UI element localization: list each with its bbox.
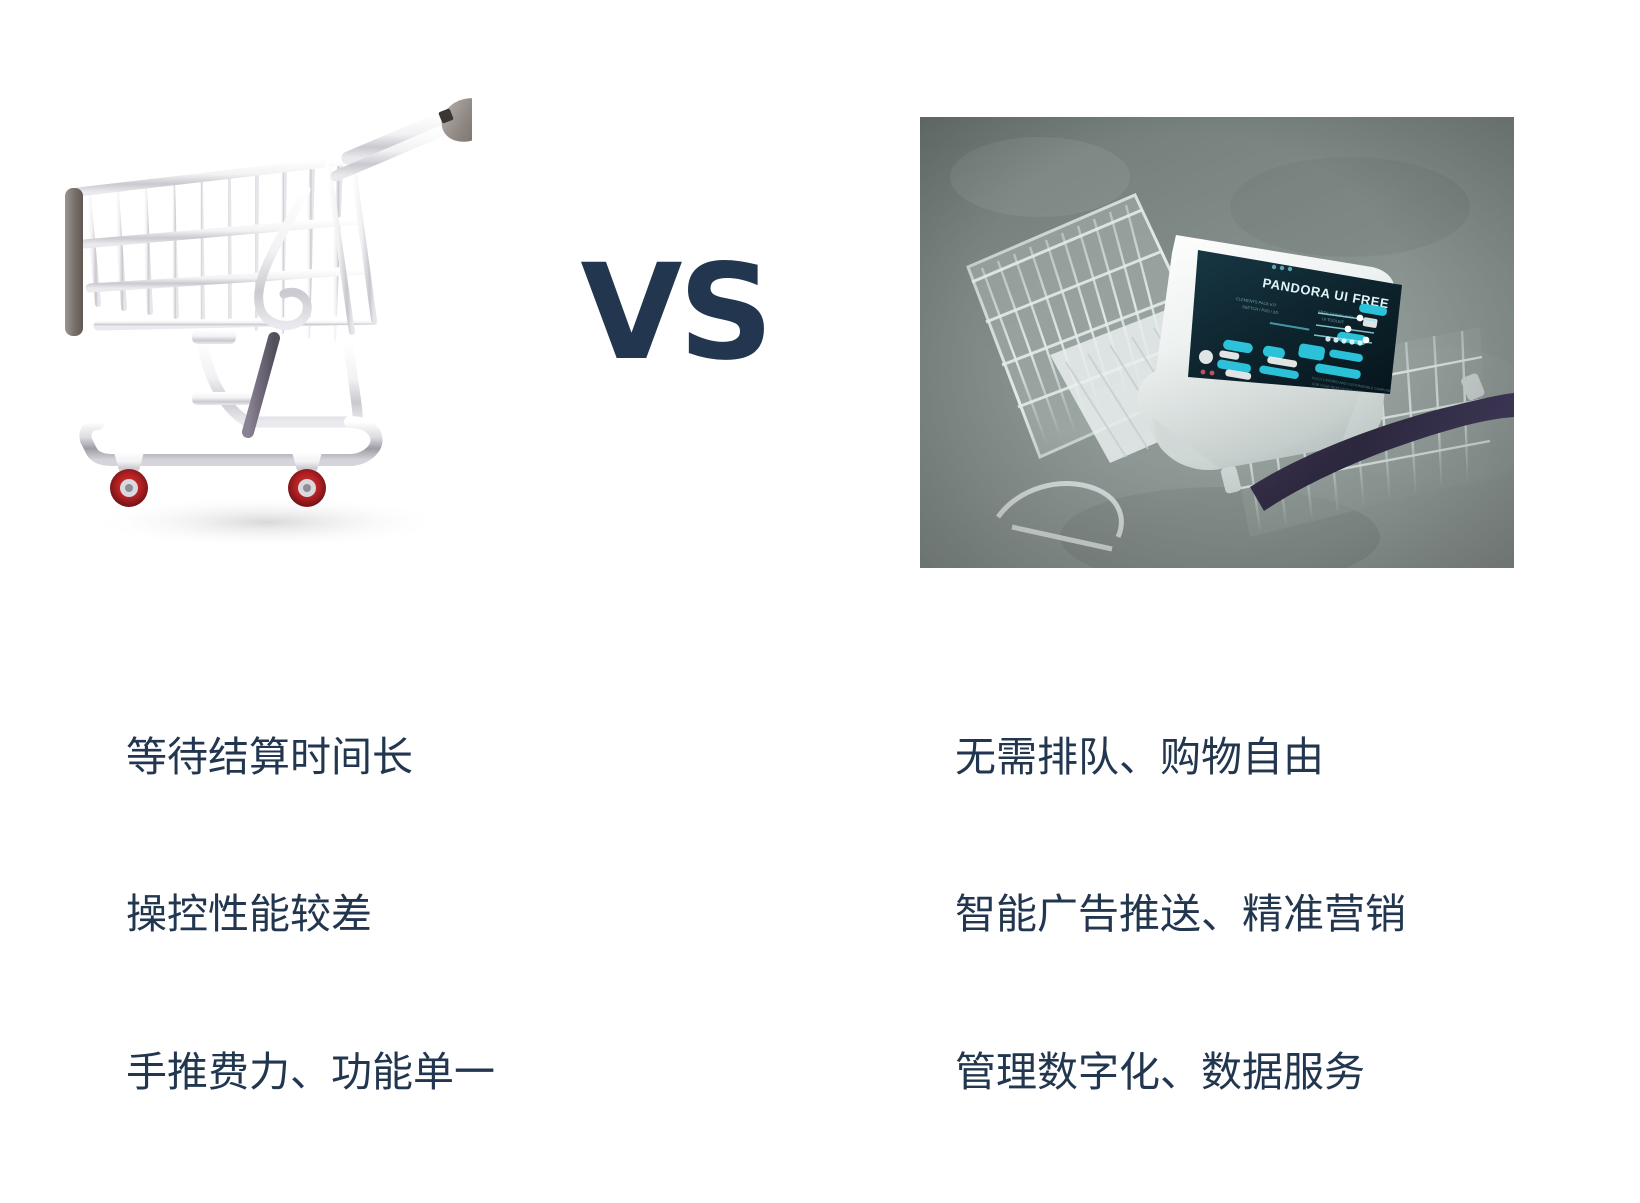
smart-shopping-cart-photo: PANDORA UI FREE ELEMENTS PACK KIT FREE D… <box>920 117 1514 568</box>
left-caption-line-2: 操控性能较差 <box>126 888 495 940</box>
right-caption-block: 无需排队、购物自由 智能广告推送、精准营销 管理数字化、数据服务 <box>955 626 1406 1203</box>
traditional-shopping-cart-image <box>52 92 472 552</box>
cart-front-bar <box>65 188 83 336</box>
vs-badge: VS <box>560 248 790 378</box>
slide-root: VS <box>0 0 1640 906</box>
cart-under-frame <box>202 340 352 422</box>
left-caption-line-1: 等待结算时间长 <box>126 731 495 783</box>
right-caption-line-3: 管理数字化、数据服务 <box>955 1046 1406 1098</box>
vs-label: VS <box>580 247 769 379</box>
right-caption-line-2: 智能广告推送、精准营销 <box>955 888 1406 940</box>
cart-shadow <box>87 496 447 548</box>
right-caption-line-1: 无需排队、购物自由 <box>955 731 1406 783</box>
left-caption-block: 等待结算时间长 操控性能较差 手推费力、功能单一 <box>126 626 495 1203</box>
left-caption-line-3: 手推费力、功能单一 <box>126 1046 495 1098</box>
